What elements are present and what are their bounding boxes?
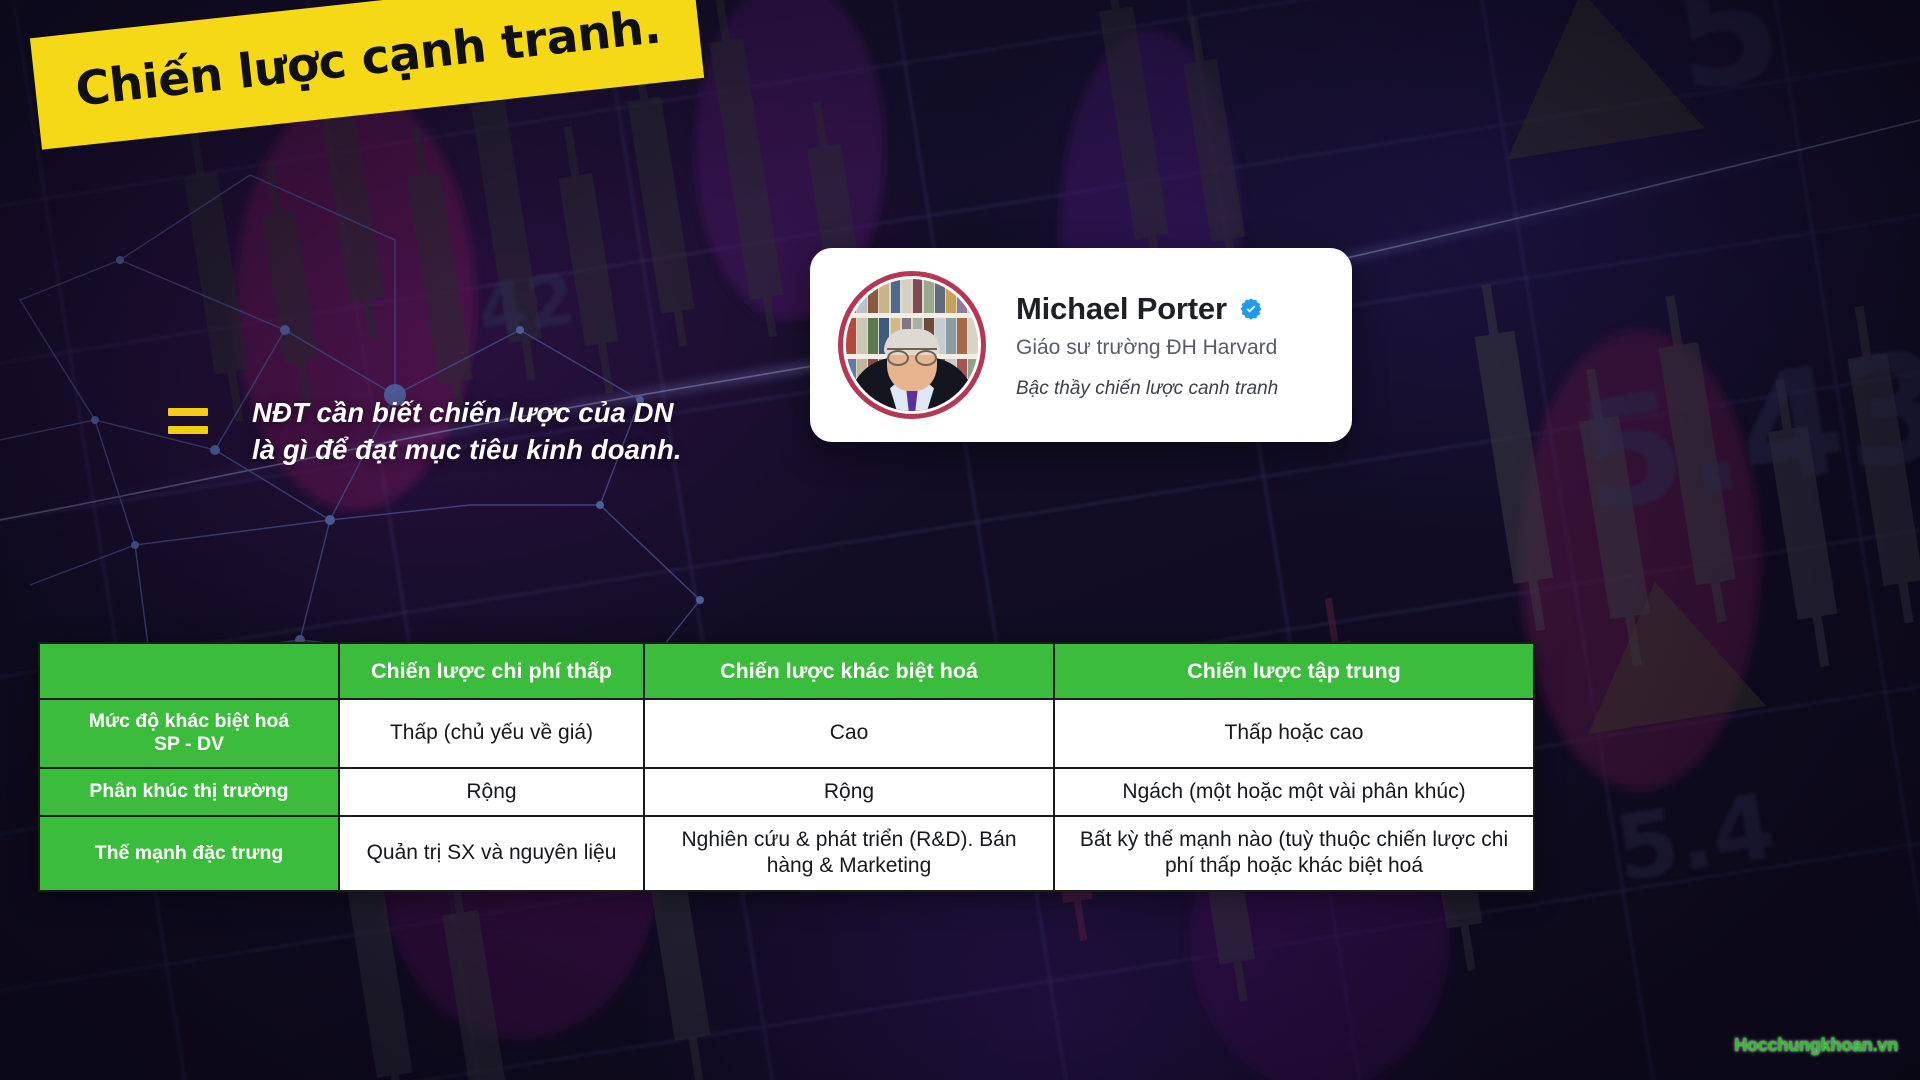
profile-card: Michael Porter Giáo sư trường ĐH Harvard… (810, 248, 1352, 442)
equals-bar-top (168, 408, 208, 416)
table-cell: Quản trị SX và nguyên liệu (339, 816, 644, 891)
equals-icon (168, 408, 208, 434)
table-corner-cell (39, 643, 339, 699)
background-layer: 5 5.43 42 5.4 (0, 0, 1920, 1080)
table-row-header-differentiation-level: Mức độ khác biệt hoá SP - DV (39, 699, 339, 768)
verified-badge-icon (1239, 297, 1263, 321)
table-header: Chiến lược chi phí thấp Chiến lược khác … (39, 643, 1534, 699)
subtitle-text: NĐT cần biết chiến lược của DN là gì để … (252, 395, 682, 468)
watermark: Hocchungkhoan.vn (1734, 1035, 1898, 1056)
table-cell: Cao (644, 699, 1054, 768)
table-body: Mức độ khác biệt hoá SP - DV Thấp (chủ y… (39, 699, 1534, 891)
table-cell: Rộng (339, 768, 644, 816)
table-cell: Thấp hoặc cao (1054, 699, 1534, 768)
profile-name-row: Michael Porter (1016, 291, 1278, 327)
table-row-header-core-strength: Thế mạnh đặc trưng (39, 816, 339, 891)
table-cell: Ngách (một hoặc một vài phân khúc) (1054, 768, 1534, 816)
subtitle-line-2: là gì để đạt mục tiêu kinh doanh. (252, 432, 682, 469)
subtitle-line-1: NĐT cần biết chiến lược của DN (252, 395, 682, 432)
table-cell: Bất kỳ thế mạnh nào (tuỳ thuộc chiến lượ… (1054, 816, 1534, 891)
row-header-line-2: SP - DV (52, 733, 326, 756)
profile-role: Giáo sư trường ĐH Harvard (1016, 336, 1278, 360)
avatar (846, 279, 978, 411)
table-cell: Rộng (644, 768, 1054, 816)
subtitle-block: NĐT cần biết chiến lược của DN là gì để … (168, 395, 682, 468)
table-row: Phân khúc thị trường Rộng Rộng Ngách (mộ… (39, 768, 1534, 816)
table-cell: Nghiên cứu & phát triển (R&D). Bán hàng … (644, 816, 1054, 891)
table-column-header-differentiation: Chiến lược khác biệt hoá (644, 643, 1054, 699)
table-row-header-market-segment: Phân khúc thị trường (39, 768, 339, 816)
table-row: Thế mạnh đặc trưng Quản trị SX và nguyên… (39, 816, 1534, 891)
avatar-ring (838, 271, 986, 419)
table-cell: Thấp (chủ yếu về giá) (339, 699, 644, 768)
equals-bar-bottom (168, 426, 208, 434)
table-column-header-focus: Chiến lược tập trung (1054, 643, 1534, 699)
profile-info: Michael Porter Giáo sư trường ĐH Harvard… (1016, 291, 1278, 400)
table-row: Mức độ khác biệt hoá SP - DV Thấp (chủ y… (39, 699, 1534, 768)
profile-name: Michael Porter (1016, 291, 1227, 327)
row-header-line-1: Mức độ khác biệt hoá (52, 710, 326, 733)
table-header-row: Chiến lược chi phí thấp Chiến lược khác … (39, 643, 1534, 699)
table-column-header-cost-leadership: Chiến lược chi phí thấp (339, 643, 644, 699)
person-glasses (887, 348, 937, 360)
profile-tagline: Bậc thầy chiến lược canh tranh (1016, 378, 1278, 400)
background-vignette (0, 0, 1920, 1080)
strategy-comparison-table: Chiến lược chi phí thấp Chiến lược khác … (38, 642, 1535, 892)
